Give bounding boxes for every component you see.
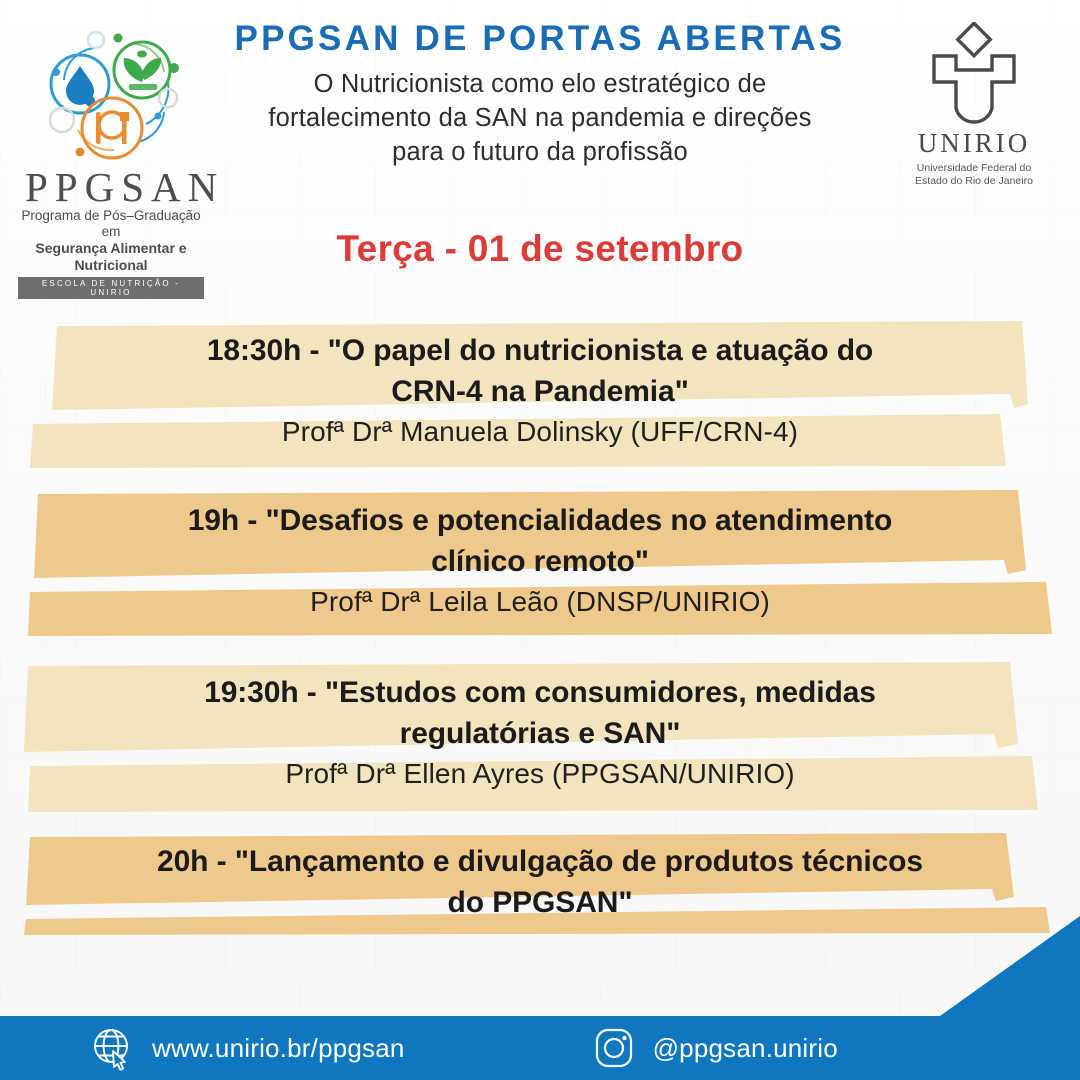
instagram-link[interactable]: @ppgsan.unirio (593, 1026, 838, 1070)
website-label: www.unirio.br/ppgsan (152, 1033, 405, 1064)
instagram-label: @ppgsan.unirio (653, 1033, 838, 1064)
poster-header: PPGSAN Programa de Pós–Graduação em Segu… (0, 0, 1080, 200)
ppgsan-logo: PPGSAN Programa de Pós–Graduação em Segu… (18, 20, 204, 192)
session-title-line-2: clínico remoto" (0, 541, 1080, 582)
poster-canvas: PPGSAN Programa de Pós–Graduação em Segu… (0, 0, 1080, 1080)
date-heading: Terça - 01 de setembro (0, 228, 1080, 270)
session-text: 19:30h - "Estudos com consumidores, medi… (0, 658, 1080, 794)
subtitle-line-1: O Nutricionista como elo estratégico de (200, 67, 880, 101)
session-title-line-2: regulatórias e SAN" (0, 713, 1080, 754)
footer-bar: www.unirio.br/ppgsan @ppgsan.unirio (0, 1016, 1080, 1080)
globe-cursor-icon (92, 1025, 134, 1071)
session-item: 20h - "Lançamento e divulgação de produt… (0, 833, 1080, 953)
session-item: 19h - "Desafios e potencialidades no ate… (0, 488, 1080, 658)
session-title-line-1: 18:30h - "O papel do nutricionista e atu… (0, 330, 1080, 371)
unirio-acronym: UNIRIO (890, 128, 1058, 159)
session-title-line-2: do PPGSAN" (0, 882, 1080, 923)
session-speaker: Profª Drª Leila Leão (DNSP/UNIRIO) (0, 582, 1080, 622)
unirio-sub-line-1: Universidade Federal do (890, 162, 1058, 175)
instagram-icon (593, 1026, 635, 1070)
session-title-line-1: 19h - "Desafios e potencialidades no ate… (0, 500, 1080, 541)
subtitle-line-2: fortalecimento da SAN na pandemia e dire… (200, 101, 880, 135)
session-text: 19h - "Desafios e potencialidades no ate… (0, 488, 1080, 622)
session-speaker: Profª Drª Manuela Dolinsky (UFF/CRN-4) (0, 412, 1080, 452)
session-text: 18:30h - "O papel do nutricionista e atu… (0, 318, 1080, 452)
session-title-line-1: 20h - "Lançamento e divulgação de produt… (0, 841, 1080, 882)
session-title-line-2: CRN-4 na Pandemia" (0, 371, 1080, 412)
ppgsan-ribbon: ESCOLA DE NUTRIÇÃO - UNIRIO (18, 277, 204, 299)
unirio-emblem-icon (890, 22, 1058, 126)
subtitle-line-3: para o futuro da profissão (200, 135, 880, 169)
session-speaker: Profª Drª Ellen Ayres (PPGSAN/UNIRIO) (0, 754, 1080, 794)
session-item: 19:30h - "Estudos com consumidores, medi… (0, 658, 1080, 833)
unirio-sub-line-2: Estado do Rio de Janeiro (890, 175, 1058, 188)
ppgsan-acronym: PPGSAN (18, 166, 204, 208)
session-title-line-1: 19:30h - "Estudos com consumidores, medi… (0, 672, 1080, 713)
title-block: PPGSAN DE PORTAS ABERTAS O Nutricionista… (200, 18, 880, 169)
website-link[interactable]: www.unirio.br/ppgsan (92, 1025, 405, 1071)
sessions-list: 18:30h - "O papel do nutricionista e atu… (0, 318, 1080, 953)
unirio-logo: UNIRIO Universidade Federal do Estado do… (890, 22, 1058, 182)
main-title: PPGSAN DE PORTAS ABERTAS (200, 18, 880, 60)
session-item: 18:30h - "O papel do nutricionista e atu… (0, 318, 1080, 488)
session-text: 20h - "Lançamento e divulgação de produt… (0, 833, 1080, 923)
